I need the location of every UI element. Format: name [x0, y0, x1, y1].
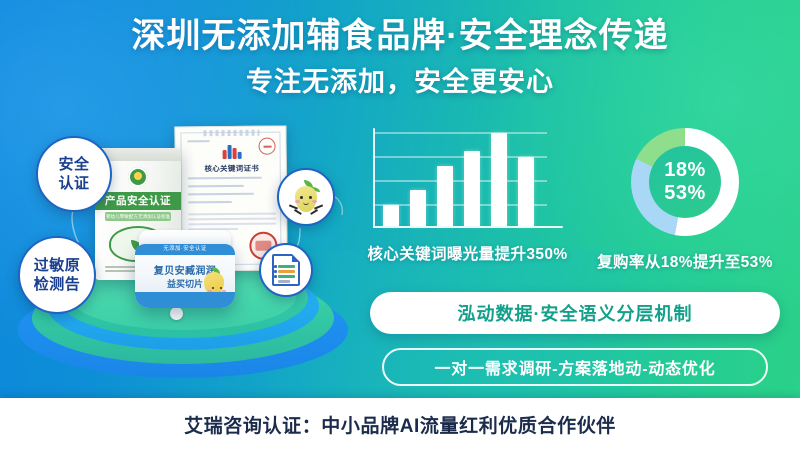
- badge-safety-certification[interactable]: 安全 认证: [36, 136, 112, 212]
- doc-bullet-1: [274, 265, 277, 268]
- pear-mascot-icon: [291, 179, 321, 215]
- certificate-stamp-small-icon: [258, 138, 275, 155]
- doc-line-3: [278, 275, 295, 278]
- donut-chart: 18% 53%: [631, 128, 739, 236]
- page-subtitle: 专注无添加，安全更安心: [0, 64, 800, 100]
- primary-pill-button[interactable]: 泓动数据·安全语义分层机制: [370, 292, 780, 334]
- jar-body: 无添加·安全认证 复贝安臧润润 益买切片: [135, 244, 235, 308]
- bar-3: [437, 166, 453, 226]
- bar-1: [383, 205, 399, 226]
- footer-text: 艾瑞咨询认证：中小品牌AI流量红利优质合作伙伴: [184, 411, 616, 438]
- pouch-label-band: 产品安全认证: [95, 192, 181, 210]
- badge-line-1: 安全: [58, 155, 89, 174]
- product-jar: 无添加·安全认证 复贝安臧润润 益买切片: [135, 230, 235, 310]
- bar-chart-block: 核心关键词曝光量提升350%: [360, 128, 575, 264]
- badge-allergen-report-label: 过敏原 检测告: [34, 256, 81, 294]
- certificate-title: 核心关键词证书: [176, 163, 288, 175]
- pouch-label: 产品安全认证: [95, 192, 181, 210]
- bar-6: [518, 157, 534, 226]
- bar-chart: [373, 128, 563, 228]
- certificate-ornament: [203, 130, 259, 136]
- pear-blush-right: [312, 200, 317, 203]
- badge-pear-mascot[interactable]: [277, 168, 335, 226]
- donut-center: 18% 53%: [649, 146, 721, 218]
- document-report-icon: [272, 254, 300, 286]
- badge-line-2: 认证: [58, 174, 89, 193]
- doc-bullet-3: [274, 275, 277, 278]
- pear-blush-left: [295, 200, 300, 203]
- bar-2: [410, 190, 426, 226]
- badge-safety-certification-label: 安全 认证: [58, 155, 89, 193]
- pear-eye-right: [220, 287, 222, 289]
- page-title: 深圳无添加辅食品牌·安全理念传递: [0, 14, 800, 58]
- bar-chart-caption: 核心关键词曝光量提升350%: [360, 242, 575, 264]
- pouch-sublabel-band: 婴幼儿零敏配方无添加认证标准: [105, 212, 171, 221]
- pouch-sublabel: 婴幼儿零敏配方无添加认证标准: [105, 212, 171, 221]
- certificate-fields: [188, 177, 276, 210]
- primary-pill-label: 泓动数据·安全语义分层机制: [458, 300, 693, 326]
- doc-line-4: [278, 280, 290, 283]
- jar-cap-label: 无添加·安全认证: [135, 244, 235, 255]
- bar-5: [491, 133, 507, 226]
- jar-cap-band: 无添加·安全认证: [135, 244, 235, 255]
- badge-allergen-report[interactable]: 过敏原 检测告: [18, 236, 96, 314]
- donut-center-top: 18%: [664, 159, 706, 182]
- certificate-top-line: [187, 140, 209, 142]
- bar-chart-y-axis: [373, 128, 375, 228]
- doc-line-1: [278, 265, 295, 268]
- badge-document-report[interactable]: [259, 243, 313, 297]
- bar-4: [464, 151, 480, 226]
- bar-chart-x-axis: [373, 226, 563, 228]
- doc-line-2: [278, 270, 295, 273]
- banner-headings: 深圳无添加辅食品牌·安全理念传递 专注无添加，安全更安心: [0, 14, 800, 100]
- badge-line-1: 过敏原: [34, 256, 81, 275]
- pear-eye-left: [212, 287, 214, 289]
- bar-series: [383, 128, 563, 226]
- secondary-pill-button[interactable]: 一对一需求调研-方案落地动-动态优化: [382, 348, 768, 386]
- pear-eye-left: [300, 196, 303, 199]
- pear-mouth: [303, 201, 309, 205]
- donut-center-bottom: 53%: [664, 182, 706, 205]
- cta-pill-group: 泓动数据·安全语义分层机制 一对一需求调研-方案落地动-动态优化: [370, 292, 780, 386]
- donut-chart-caption: 复购率从18%提升至53%: [580, 250, 790, 272]
- certificate-logo-icon: [222, 143, 242, 159]
- badge-line-2: 检测告: [34, 275, 81, 294]
- donut-chart-block: 18% 53% 复购率从18%提升至53%: [580, 128, 790, 272]
- pouch-badge-icon: [128, 167, 148, 187]
- secondary-pill-label: 一对一需求调研-方案落地动-动态优化: [434, 355, 715, 379]
- footer-bar: 艾瑞咨询认证：中小品牌AI流量红利优质合作伙伴: [0, 398, 800, 450]
- jar-bottom-band: [135, 292, 235, 308]
- promo-banner: 深圳无添加辅食品牌·安全理念传递 专注无添加，安全更安心 核心关键词证书: [0, 0, 800, 450]
- pear-eye-right: [309, 196, 312, 199]
- doc-bullet-2: [274, 270, 277, 273]
